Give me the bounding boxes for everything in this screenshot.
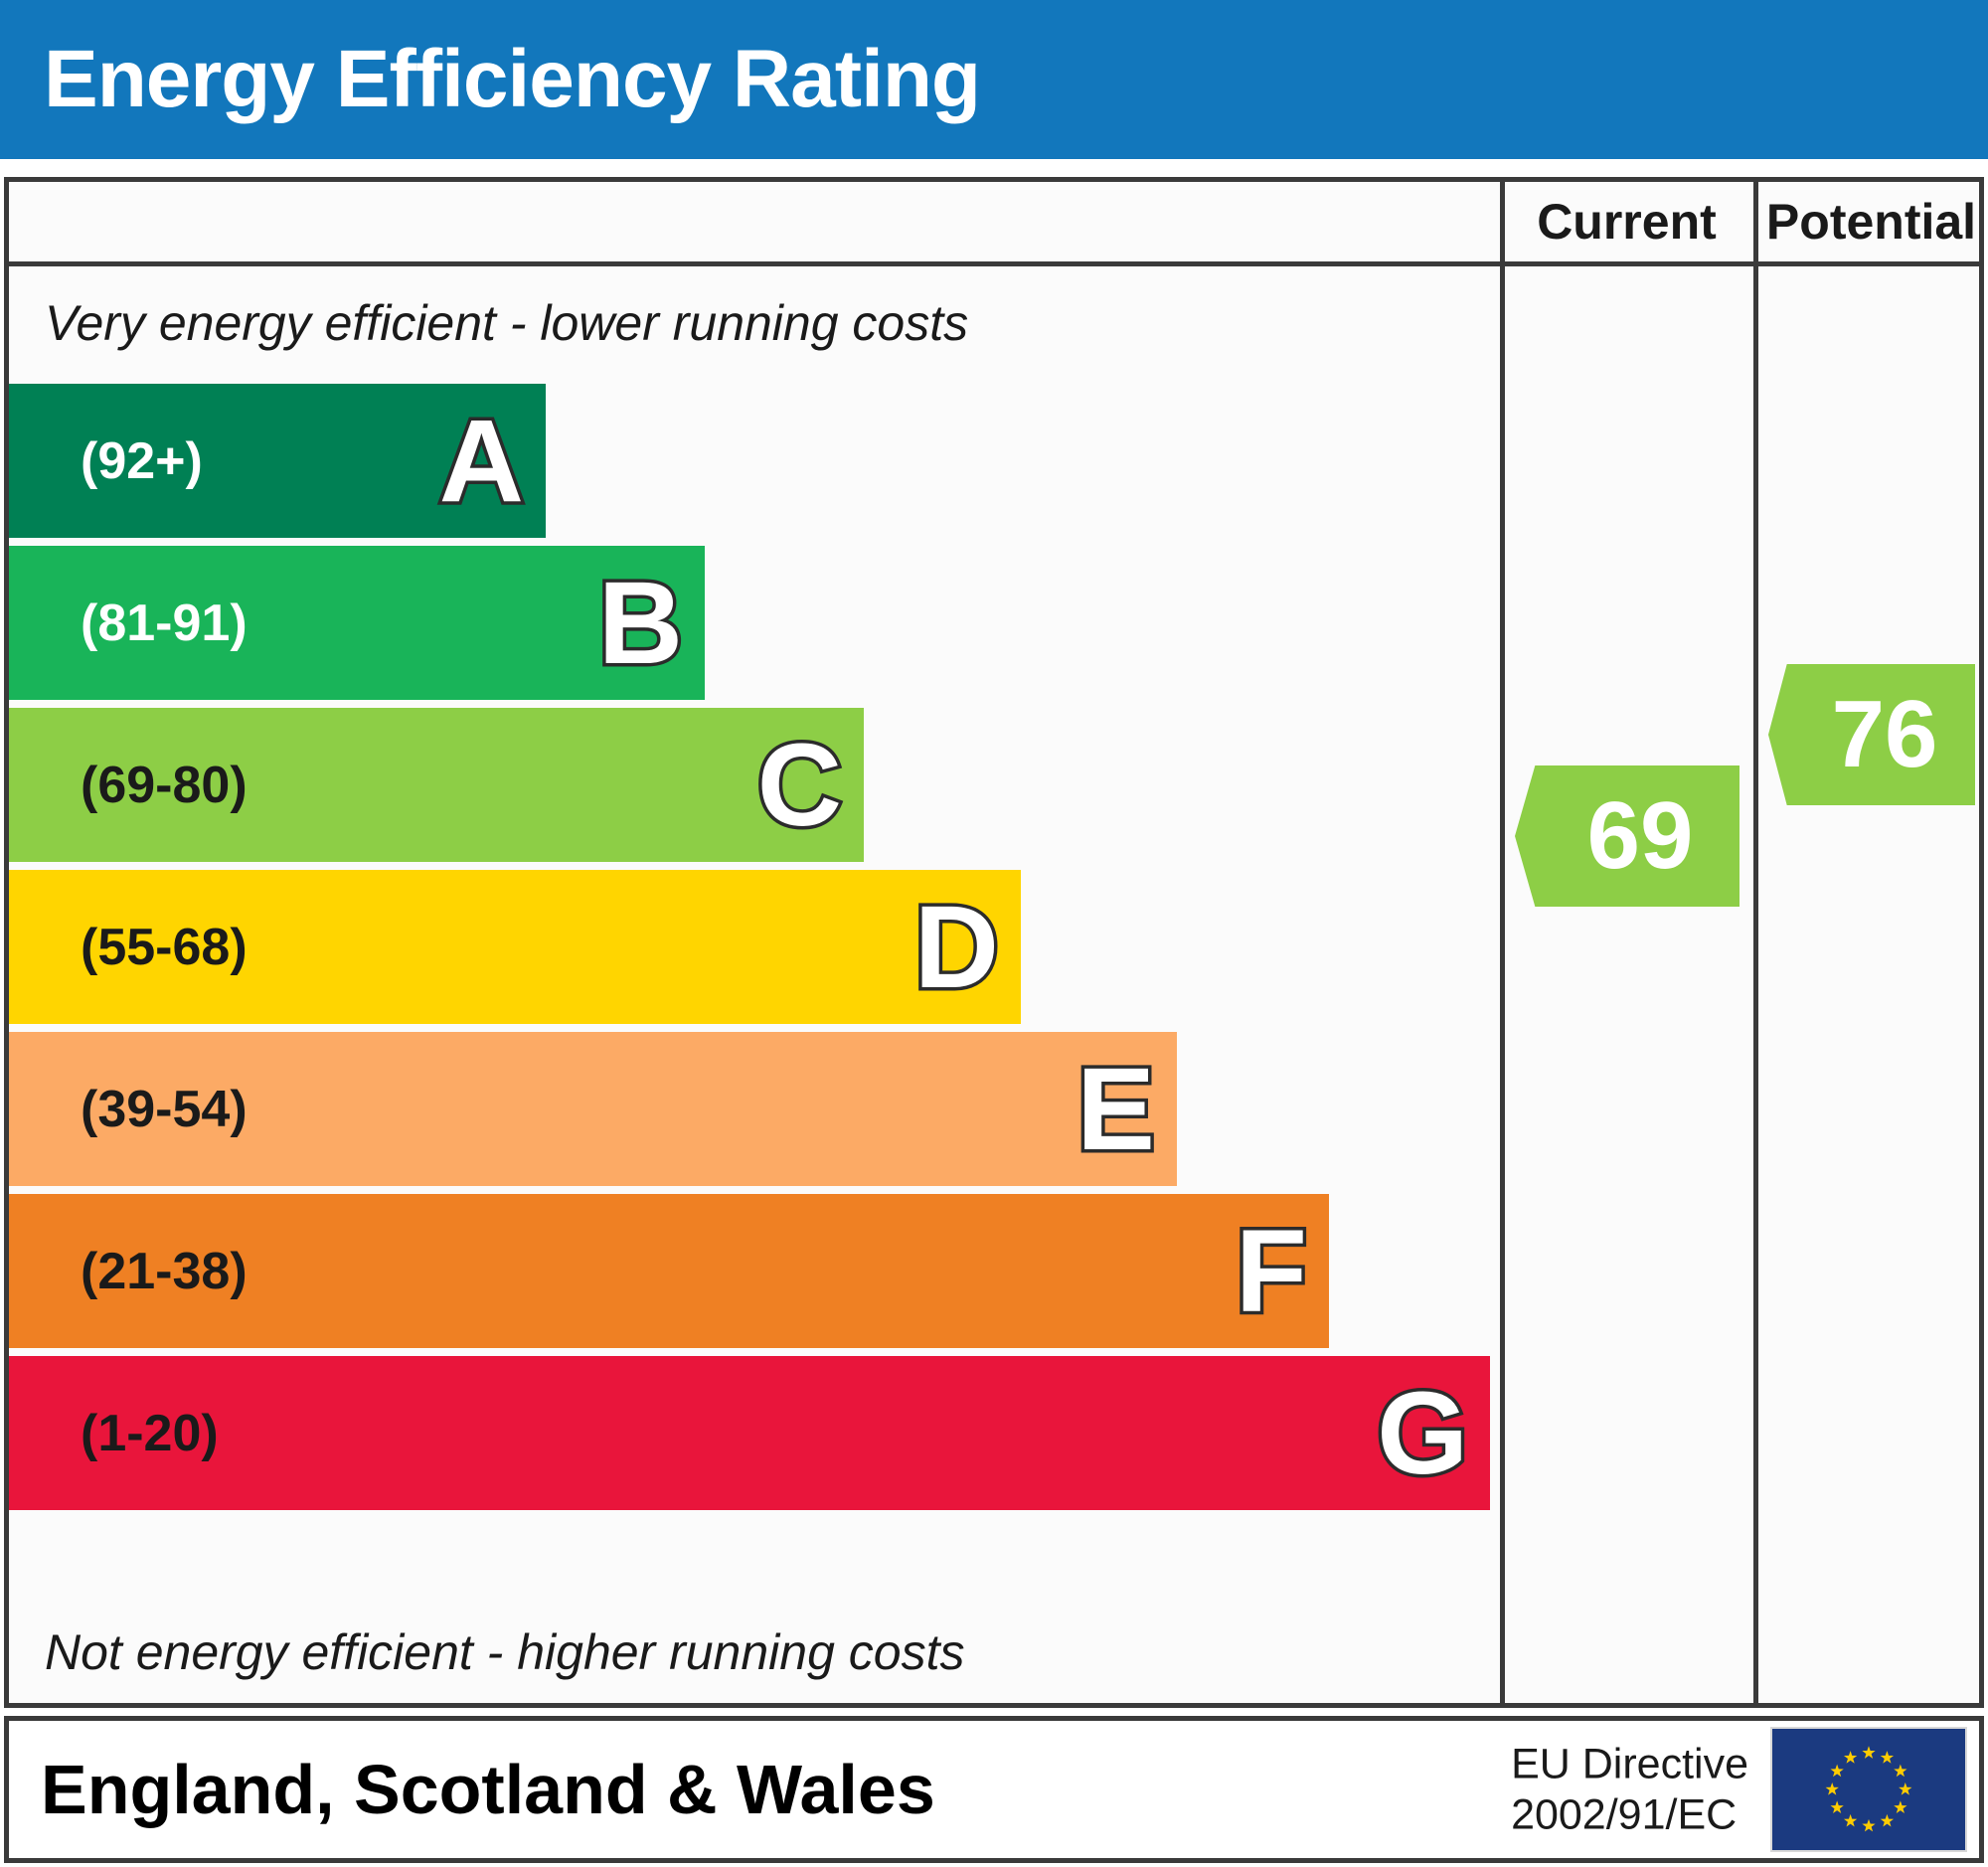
band-row-g: (1-20) G bbox=[9, 1352, 1500, 1514]
band-row-a: (92+) A bbox=[9, 380, 1500, 542]
bands-panel: Very energy efficient - lower running co… bbox=[9, 266, 1500, 1703]
band-bar-e: (39-54) E bbox=[9, 1032, 1177, 1186]
footer-region-label: England, Scotland & Wales bbox=[41, 1750, 935, 1829]
band-letter-e: E bbox=[1077, 1051, 1155, 1168]
column-header-current: Current bbox=[1500, 182, 1748, 261]
band-bar-c: (69-80) C bbox=[9, 708, 864, 862]
table-header-row: Current Potential bbox=[9, 182, 1979, 266]
note-very-efficient: Very energy efficient - lower running co… bbox=[45, 294, 968, 352]
title-bar: Energy Efficiency Rating bbox=[0, 0, 1988, 159]
band-range-c: (69-80) bbox=[81, 756, 248, 815]
band-range-g: (1-20) bbox=[81, 1404, 219, 1463]
current-rating-value: 69 bbox=[1562, 788, 1694, 884]
note-not-efficient: Not energy efficient - higher running co… bbox=[45, 1623, 965, 1681]
band-bar-g: (1-20) G bbox=[9, 1356, 1490, 1510]
band-letter-d: D bbox=[914, 889, 999, 1006]
current-rating-arrow: 69 bbox=[1515, 765, 1739, 907]
band-row-b: (81-91) B bbox=[9, 542, 1500, 704]
band-row-d: (55-68) D bbox=[9, 866, 1500, 1028]
footer-directive: EU Directive 2002/91/EC bbox=[1511, 1739, 1748, 1839]
footer-bar: England, Scotland & Wales EU Directive 2… bbox=[4, 1716, 1984, 1863]
current-rating-column: 69 bbox=[1505, 266, 1753, 1703]
column-header-potential: Potential bbox=[1753, 182, 1984, 261]
energy-efficiency-rating-chart: Energy Efficiency Rating Current Potenti… bbox=[0, 0, 1988, 1867]
band-range-f: (21-38) bbox=[81, 1242, 248, 1301]
band-row-e: (39-54) E bbox=[9, 1028, 1500, 1190]
band-letter-g: G bbox=[1377, 1375, 1468, 1492]
band-bar-a: (92+) A bbox=[9, 384, 546, 538]
potential-rating-column: 76 bbox=[1758, 266, 1988, 1703]
band-range-b: (81-91) bbox=[81, 594, 248, 653]
page-title: Energy Efficiency Rating bbox=[44, 33, 980, 126]
eu-flag-stars bbox=[1772, 1729, 1965, 1850]
potential-rating-arrow: 76 bbox=[1768, 664, 1975, 805]
directive-line-1: EU Directive bbox=[1511, 1739, 1748, 1789]
band-row-f: (21-38) F bbox=[9, 1190, 1500, 1352]
band-letter-f: F bbox=[1236, 1213, 1307, 1330]
band-range-d: (55-68) bbox=[81, 918, 248, 977]
band-letter-c: C bbox=[757, 727, 842, 844]
band-bar-f: (21-38) F bbox=[9, 1194, 1329, 1348]
eu-flag-icon bbox=[1770, 1727, 1967, 1852]
band-letter-a: A bbox=[439, 403, 524, 520]
potential-rating-value: 76 bbox=[1806, 687, 1938, 782]
band-bar-d: (55-68) D bbox=[9, 870, 1021, 1024]
band-range-e: (39-54) bbox=[81, 1080, 248, 1139]
ratings-table: Current Potential Very energy efficient … bbox=[4, 177, 1984, 1708]
band-range-a: (92+) bbox=[81, 431, 203, 491]
band-row-c: (69-80) C bbox=[9, 704, 1500, 866]
band-letter-b: B bbox=[598, 565, 683, 682]
bands-stack: (92+) A (81-91) B (69-80) C bbox=[9, 380, 1500, 1513]
band-bar-b: (81-91) B bbox=[9, 546, 705, 700]
directive-line-2: 2002/91/EC bbox=[1511, 1789, 1748, 1840]
